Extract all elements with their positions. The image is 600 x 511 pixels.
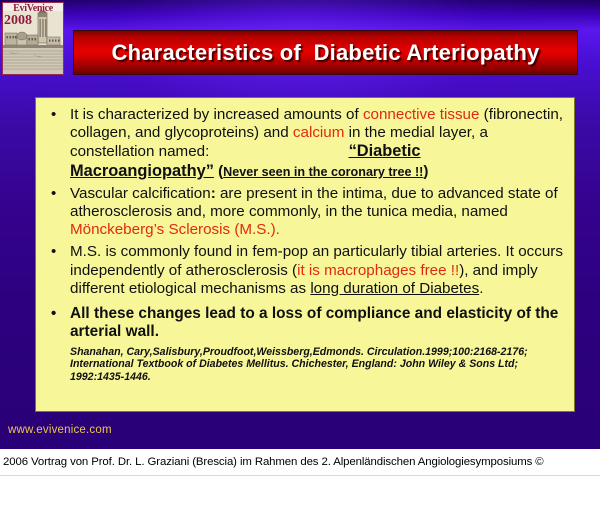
bullet-text-emphasis: it is macrophages free !! bbox=[297, 262, 459, 279]
evivenice-logo: EviVenice 2008 bbox=[2, 2, 64, 75]
content-panel: •It is characterized by increased amount… bbox=[35, 97, 575, 412]
bullet-text-segment: ( bbox=[214, 163, 223, 180]
bullet-text-segment: It is characterized by increased amounts… bbox=[70, 106, 363, 123]
citation-line: International Textbook of Diabetes Melli… bbox=[70, 358, 564, 370]
citation-line: Shanahan, Cary,Salisbury,Proudfoot,Weiss… bbox=[70, 346, 564, 358]
presentation-slide: EviVenice 2008 Characteristics of Diabet… bbox=[0, 0, 600, 449]
bullet-text-segment: . bbox=[479, 280, 483, 297]
bullet-text-spacer bbox=[209, 143, 348, 160]
site-url-text: www.evivenice.com bbox=[8, 424, 112, 436]
citation-line: 1992:1435-1446. bbox=[70, 371, 564, 383]
slide-title-banner: Characteristics of Diabetic Arteriopathy bbox=[73, 30, 578, 75]
bullet-text-segment: calcium bbox=[293, 124, 344, 141]
bullet-text-segment: connective tissue bbox=[363, 106, 480, 123]
bullet-item: • All these changes lead to a loss of co… bbox=[44, 305, 564, 342]
footer-divider bbox=[0, 475, 600, 476]
footer-attribution-text: 2006 Vortrag von Prof. Dr. L. Graziani (… bbox=[3, 456, 544, 468]
bullet-text-emphasis: long duration of Diabetes bbox=[310, 280, 479, 297]
bullet-text-segment: All these changes lead to a loss of comp… bbox=[70, 305, 558, 340]
bullet-text-segment: ) bbox=[423, 163, 428, 180]
bullet-item: •It is characterized by increased amount… bbox=[44, 106, 564, 181]
slide-title: Characteristics of Diabetic Arteriopathy bbox=[112, 40, 540, 66]
logo-year-text: 2008 bbox=[4, 14, 32, 28]
bullet-marker: • bbox=[51, 243, 56, 261]
bullet-text-emphasis: Mönckeberg’s Sclerosis (M.S.). bbox=[70, 221, 280, 238]
citation-block: Shanahan, Cary,Salisbury,Proudfoot,Weiss… bbox=[70, 346, 564, 383]
bullet-marker: • bbox=[51, 106, 56, 124]
bullet-text-note: Never seen in the coronary tree !! bbox=[223, 165, 423, 179]
bullet-list: •It is characterized by increased amount… bbox=[44, 106, 564, 342]
bullet-marker: • bbox=[51, 185, 56, 203]
bullet-item: •M.S. is commonly found in fem-pop an pa… bbox=[44, 243, 564, 298]
footer-strip: 2006 Vortrag von Prof. Dr. L. Graziani (… bbox=[0, 449, 600, 511]
bullet-marker: • bbox=[51, 305, 56, 323]
bullet-item: •Vascular calcification: are present in … bbox=[44, 185, 564, 240]
bullet-text-segment: Vascular calcification bbox=[70, 185, 211, 202]
